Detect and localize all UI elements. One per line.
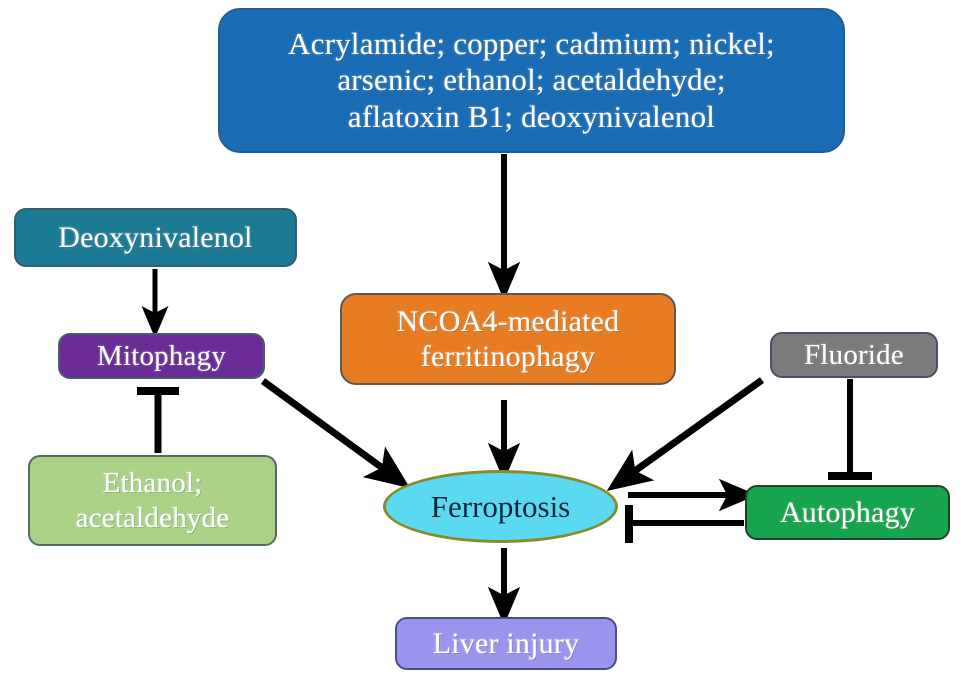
pathway-diagram-canvas: Acrylamide; copper; cadmium; nickel; ars…: [0, 0, 969, 688]
node-mitophagy[interactable]: Mitophagy: [58, 333, 265, 379]
node-ethanol-acetaldehyde[interactable]: Ethanol; acetaldehyde: [28, 455, 277, 546]
edge-ethanol-inhibits-mitophagy: [137, 391, 179, 453]
node-fluoride[interactable]: Fluoride: [770, 332, 938, 378]
node-fluoride-label: Fluoride: [804, 338, 904, 372]
node-ncoa4-mediated-ferritinophagy[interactable]: NCOA4-mediated ferritinophagy: [340, 293, 676, 385]
edge-autophagy-inhibits-ferroptosis: [629, 505, 744, 543]
node-autophagy[interactable]: Autophagy: [745, 485, 950, 540]
edge-fluoride-to-ferroptosis: [625, 380, 762, 478]
node-ferroptosis[interactable]: Ferroptosis: [383, 470, 618, 543]
node-autophagy-label: Autophagy: [780, 495, 915, 530]
node-mitophagy-label: Mitophagy: [97, 339, 226, 373]
node-sources-line-2: arsenic; ethanol; acetaldehyde;: [288, 62, 775, 99]
node-deoxynivalenol[interactable]: Deoxynivalenol: [14, 208, 297, 267]
node-sources[interactable]: Acrylamide; copper; cadmium; nickel; ars…: [218, 8, 845, 153]
node-deoxynivalenol-label: Deoxynivalenol: [58, 220, 252, 255]
node-ncoa4-line-2: ferritinophagy: [397, 339, 620, 374]
node-ethanol-line-1: Ethanol;: [76, 466, 230, 500]
node-liver-injury[interactable]: Liver injury: [395, 617, 617, 670]
node-liver-injury-label: Liver injury: [433, 626, 580, 661]
node-ferroptosis-label: Ferroptosis: [431, 489, 571, 525]
node-sources-line-3: aflatoxin B1; deoxynivalenol: [288, 99, 775, 136]
node-ethanol-line-2: acetaldehyde: [76, 501, 230, 535]
edge-fluoride-inhibits-autophagy: [828, 379, 872, 476]
edge-mitophagy-to-ferroptosis: [263, 381, 392, 475]
node-ncoa4-line-1: NCOA4-mediated: [397, 304, 620, 339]
node-sources-line-1: Acrylamide; copper; cadmium; nickel;: [288, 26, 775, 63]
